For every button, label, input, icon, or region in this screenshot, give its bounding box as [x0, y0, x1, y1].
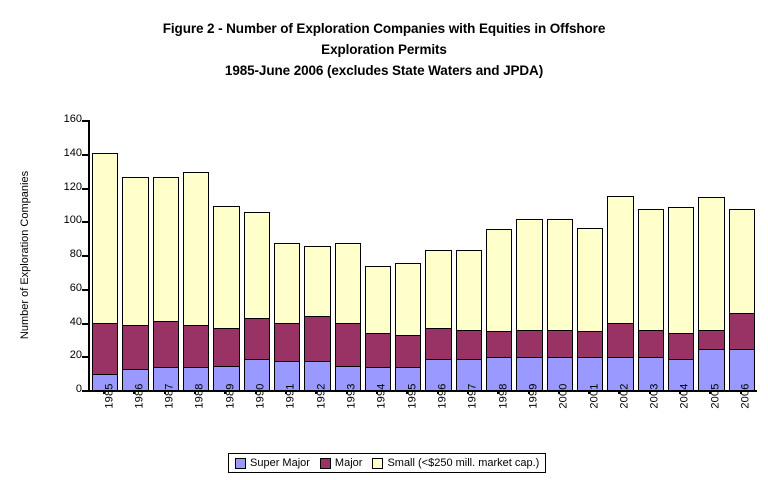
- bar-segment-small: [395, 263, 421, 336]
- bar-stack: [122, 177, 148, 390]
- bar-column: [666, 120, 696, 390]
- bar-column: [727, 120, 757, 390]
- bar-column: [151, 120, 181, 390]
- bar-stack: [365, 266, 391, 390]
- x-axis-tick-label: 1994: [361, 394, 391, 446]
- bar-segment-small: [304, 246, 330, 317]
- x-axis-tick-label: 2002: [603, 394, 633, 446]
- bar-segment-small: [698, 197, 724, 330]
- bar-series-group: [90, 120, 757, 390]
- bar-segment-small: [92, 153, 118, 323]
- bar-segment-major: [425, 328, 451, 360]
- y-axis-tick-label: 0: [42, 384, 82, 395]
- y-axis-tick: [82, 289, 90, 291]
- bar-segment-major: [638, 330, 664, 359]
- chart-title-line-1: Figure 2 - Number of Exploration Compani…: [0, 18, 768, 39]
- x-axis-tick-label: 2003: [634, 394, 664, 446]
- bar-stack: [153, 177, 179, 390]
- bar-segment-small: [122, 177, 148, 326]
- bar-segment-small: [486, 229, 512, 332]
- bar-column: [120, 120, 150, 390]
- bar-stack: [638, 209, 664, 390]
- x-axis-tick-label: 1997: [452, 394, 482, 446]
- bar-segment-small: [274, 243, 300, 324]
- bar-segment-small: [456, 250, 482, 331]
- bar-column: [90, 120, 120, 390]
- y-axis-tick-label: 60: [42, 283, 82, 294]
- bar-segment-small: [365, 266, 391, 334]
- bar-column: [454, 120, 484, 390]
- x-axis-tick-label: 1990: [240, 394, 270, 446]
- bar-column: [302, 120, 332, 390]
- legend-item[interactable]: Super Major: [235, 457, 310, 469]
- bar-stack: [516, 219, 542, 390]
- bar-column: [575, 120, 605, 390]
- bar-segment-major: [729, 313, 755, 350]
- bar-column: [636, 120, 666, 390]
- bar-stack: [183, 172, 209, 390]
- bar-column: [333, 120, 363, 390]
- legend-swatch: [372, 458, 383, 469]
- bar-segment-major: [365, 333, 391, 368]
- bar-column: [605, 120, 635, 390]
- y-axis-tick: [82, 255, 90, 257]
- bar-stack: [425, 250, 451, 390]
- x-axis-tick-label: 1991: [270, 394, 300, 446]
- bar-segment-small: [425, 250, 451, 329]
- x-axis-tick-label: 1998: [482, 394, 512, 446]
- x-axis-tick-label: 2000: [543, 394, 573, 446]
- bar-stack: [577, 228, 603, 390]
- bar-segment-major: [456, 330, 482, 360]
- bar-stack: [92, 153, 118, 390]
- x-axis-tick-label: 1987: [149, 394, 179, 446]
- bar-stack: [486, 229, 512, 390]
- y-axis-title: Number of Exploration Companies: [18, 120, 32, 390]
- bar-stack: [456, 250, 482, 390]
- bar-stack: [274, 243, 300, 390]
- y-axis-tick-label: 160: [42, 114, 82, 125]
- plot-area: 020406080100120140160: [88, 120, 757, 392]
- bar-segment-small: [668, 207, 694, 334]
- y-axis-tick: [82, 188, 90, 190]
- bar-column: [545, 120, 575, 390]
- bar-column: [423, 120, 453, 390]
- bar-segment-small: [516, 219, 542, 330]
- bar-segment-major: [153, 321, 179, 368]
- chart-figure: Figure 2 - Number of Exploration Compani…: [0, 0, 768, 480]
- bar-column: [696, 120, 726, 390]
- bar-segment-major: [183, 325, 209, 369]
- y-axis-tick-label: 100: [42, 215, 82, 226]
- y-axis-tick-label: 40: [42, 317, 82, 328]
- bar-segment-major: [244, 318, 270, 360]
- bar-stack: [668, 207, 694, 390]
- x-axis-tick-label: 2005: [694, 394, 724, 446]
- x-axis-tick-label: 1999: [512, 394, 542, 446]
- bar-segment-small: [607, 196, 633, 324]
- chart-title-line-2: Exploration Permits: [0, 39, 768, 60]
- bar-segment-small: [153, 177, 179, 322]
- bar-segment-major: [486, 331, 512, 358]
- bar-segment-small: [244, 212, 270, 318]
- bar-segment-major: [122, 325, 148, 371]
- y-axis-tick-label: 120: [42, 182, 82, 193]
- bar-segment-major: [607, 323, 633, 358]
- x-axis-tick-label: 1988: [179, 394, 209, 446]
- bar-segment-major: [547, 330, 573, 359]
- x-axis: 1985198619871988198919901991199219931994…: [88, 394, 755, 446]
- bar-column: [514, 120, 544, 390]
- legend-item[interactable]: Small (<$250 mill. market cap.): [372, 457, 539, 469]
- x-axis-tick-label: 1985: [88, 394, 118, 446]
- bar-segment-major: [335, 323, 361, 367]
- x-axis-tick-label: 1992: [300, 394, 330, 446]
- x-axis-tick-label: 1989: [209, 394, 239, 446]
- y-axis-tick: [82, 390, 90, 392]
- bar-segment-small: [335, 243, 361, 324]
- bar-stack: [335, 243, 361, 390]
- y-axis-tick-label: 80: [42, 249, 82, 260]
- x-axis-tick-label: 1986: [118, 394, 148, 446]
- x-axis-tick-label: 2001: [573, 394, 603, 446]
- bar-segment-major: [274, 323, 300, 362]
- bar-stack: [729, 209, 755, 390]
- y-axis-tick-label: 140: [42, 148, 82, 159]
- bar-stack: [213, 206, 239, 390]
- x-axis-tick-label: 1996: [421, 394, 451, 446]
- bar-column: [363, 120, 393, 390]
- bar-column: [211, 120, 241, 390]
- bar-segment-major: [92, 323, 118, 375]
- bar-segment-small: [577, 228, 603, 333]
- y-axis-tick: [82, 356, 90, 358]
- legend-swatch: [320, 458, 331, 469]
- y-axis-tick: [82, 323, 90, 325]
- bar-segment-major: [395, 335, 421, 369]
- chart-title: Figure 2 - Number of Exploration Compani…: [0, 18, 768, 81]
- y-axis-title-text: Number of Exploration Companies: [19, 171, 31, 339]
- bar-stack: [395, 263, 421, 390]
- legend-label: Small (<$250 mill. market cap.): [387, 457, 539, 469]
- bar-segment-small: [213, 206, 239, 329]
- bar-segment-small: [638, 209, 664, 331]
- y-axis-tick: [82, 154, 90, 156]
- legend-label: Major: [335, 457, 363, 469]
- bar-stack: [698, 197, 724, 390]
- bar-column: [393, 120, 423, 390]
- bar-segment-major: [516, 330, 542, 359]
- bar-segment-small: [729, 209, 755, 314]
- legend-swatch: [235, 458, 246, 469]
- y-axis-tick: [82, 120, 90, 122]
- chart-legend: Super MajorMajorSmall (<$250 mill. marke…: [228, 453, 546, 473]
- x-axis-tick-label: 2006: [725, 394, 755, 446]
- legend-item[interactable]: Major: [320, 457, 363, 469]
- bar-column: [484, 120, 514, 390]
- bar-column: [242, 120, 272, 390]
- bar-stack: [304, 246, 330, 390]
- bar-segment-major: [304, 316, 330, 362]
- bar-column: [181, 120, 211, 390]
- x-axis-tick-label: 1995: [391, 394, 421, 446]
- legend-label: Super Major: [250, 457, 310, 469]
- x-axis-tick-label: 1993: [331, 394, 361, 446]
- bar-segment-small: [547, 219, 573, 330]
- bar-segment-major: [698, 330, 724, 350]
- y-axis-tick-label: 20: [42, 350, 82, 361]
- bar-column: [272, 120, 302, 390]
- chart-title-line-3: 1985-June 2006 (excludes State Waters an…: [0, 60, 768, 81]
- bar-segment-small: [183, 172, 209, 326]
- bar-stack: [244, 212, 270, 390]
- bar-segment-major: [577, 331, 603, 358]
- bar-segment-major: [213, 328, 239, 367]
- x-axis-tick-label: 2004: [664, 394, 694, 446]
- bar-stack: [547, 219, 573, 390]
- y-axis-tick: [82, 221, 90, 223]
- bar-stack: [607, 196, 633, 390]
- bar-segment-major: [668, 333, 694, 360]
